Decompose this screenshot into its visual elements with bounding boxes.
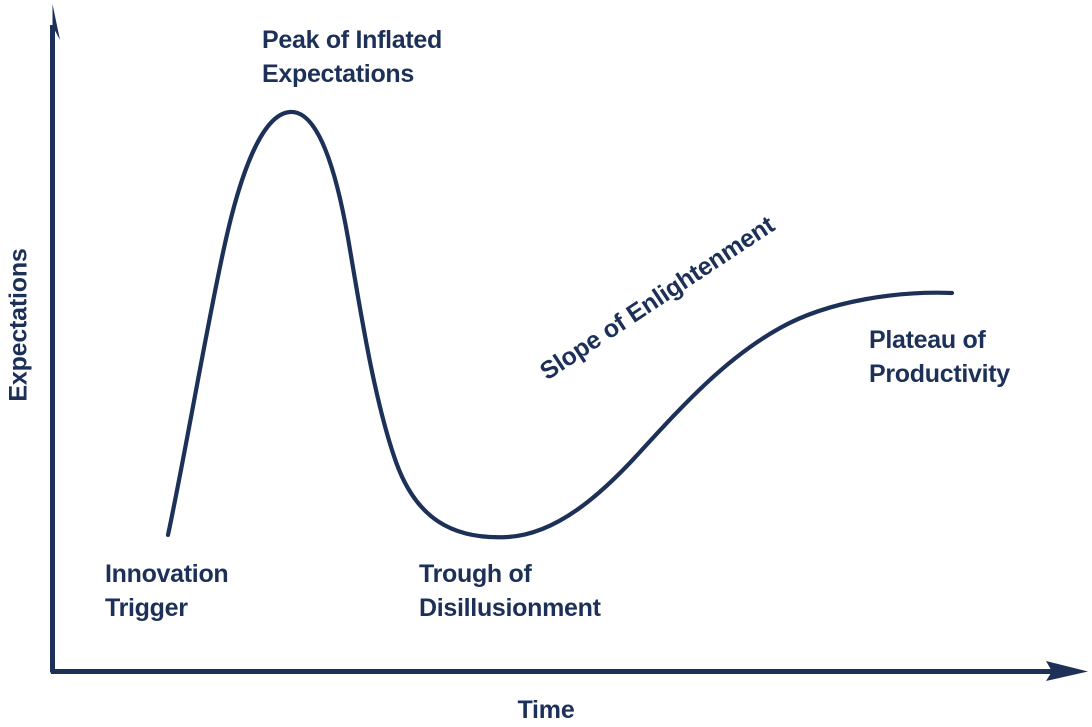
x-axis [51, 661, 1088, 681]
label-trough-of-disillusionment: Trough of Disillusionment [419, 558, 601, 626]
hype-cycle-diagram: Peak of Inflated Expectations Innovation… [0, 0, 1092, 727]
label-peak-of-inflated-expectations: Peak of Inflated Expectations [262, 24, 442, 92]
hype-cycle-curve [168, 112, 952, 537]
y-axis [53, 4, 61, 673]
label-innovation-trigger: Innovation Trigger [105, 558, 228, 626]
x-axis-title: Time [0, 696, 1092, 725]
x-axis-arrow-icon [1046, 661, 1088, 681]
label-plateau-of-productivity: Plateau of Productivity [869, 324, 1010, 392]
y-axis-title-wrap: Expectations [2, 225, 36, 425]
y-axis-title: Expectations [5, 248, 34, 401]
